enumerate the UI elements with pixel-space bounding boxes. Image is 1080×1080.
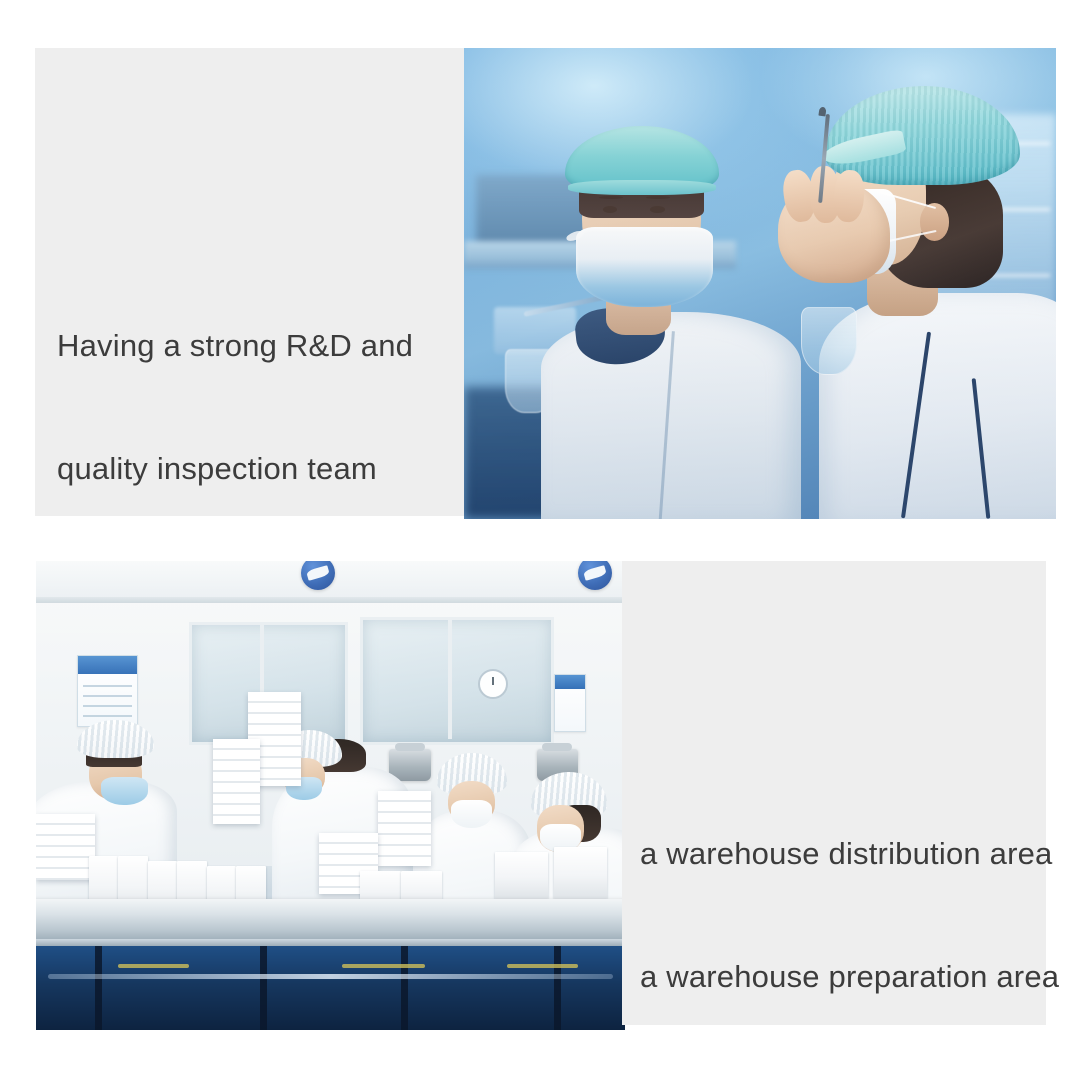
table-cross-rail: [48, 974, 613, 979]
table-leg: [554, 946, 561, 1030]
top-caption: Having a strong R&D and quality inspecti…: [57, 243, 413, 571]
bottom-caption-line-2: a warehouse preparation area: [640, 956, 1059, 997]
table-leg: [260, 946, 267, 1030]
notice-text-line: [83, 695, 132, 697]
notice-header: [78, 656, 137, 674]
carton: [495, 852, 548, 899]
stainless-work-table: [36, 899, 625, 941]
lab-flask-held: [801, 307, 856, 375]
lab-quality-inspection-photo: [464, 48, 1056, 519]
carton-stack: [36, 814, 95, 880]
top-caption-line-1: Having a strong R&D and: [57, 325, 413, 366]
notice-header: [555, 675, 584, 690]
floor-marking: [118, 964, 189, 968]
interior-glass-window: [360, 617, 554, 745]
technician-a-eye: [650, 206, 664, 213]
floor-marking: [342, 964, 424, 968]
notice-text-line: [83, 705, 132, 707]
top-caption-line-2: quality inspection team: [57, 448, 413, 489]
pipette-tip-icon: [819, 106, 827, 116]
notice-text-line: [83, 715, 132, 717]
wall-clock-icon: [478, 669, 508, 699]
table-leg: [401, 946, 408, 1030]
floor-marking: [507, 964, 578, 968]
cleanroom-floor: [36, 946, 625, 1030]
bottom-caption-line-1: a warehouse distribution area: [640, 833, 1059, 874]
table-leg: [95, 946, 102, 1030]
carton-stack: [213, 739, 260, 823]
window-mullion: [448, 617, 452, 739]
wall-notice-small: [554, 674, 585, 732]
technician-a-hairnet-band: [568, 180, 716, 195]
carton: [554, 847, 607, 899]
technician-a-eye: [603, 206, 617, 213]
bottom-caption: a warehouse distribution area a warehous…: [640, 751, 1059, 1079]
notice-text-line: [83, 685, 132, 687]
carton-stack: [378, 791, 431, 866]
promo-collage: Having a strong R&D and quality inspecti…: [0, 0, 1080, 1080]
warehouse-packing-photo: [36, 561, 625, 1030]
technician-a-face-mask: [576, 227, 712, 307]
wall-notice-board: [77, 655, 138, 727]
packer-1-face-mask: [101, 777, 148, 805]
